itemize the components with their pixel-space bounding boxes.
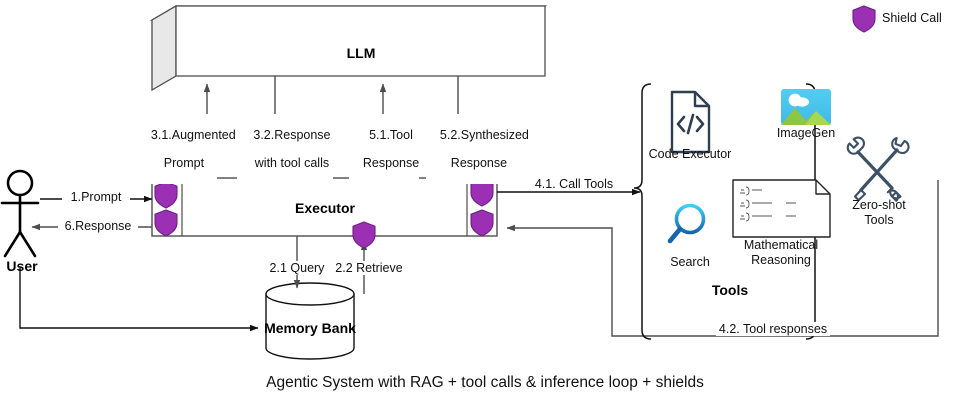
shield-icon-legend (853, 6, 875, 32)
edge-label-prompt: 1.Prompt (62, 190, 130, 204)
tool-label-line1: Mathematical (744, 238, 818, 252)
memory-bank-label: Memory Bank (250, 320, 370, 336)
edge-label-call-tools: 4.1. Call Tools (534, 177, 614, 191)
edge-label-synthesized-response: 5.2.Synthesized Response (426, 114, 518, 184)
edge-label-line2: Response (363, 156, 419, 170)
magnifier-icon[interactable] (670, 206, 704, 242)
tools-group-brace-left (634, 84, 651, 339)
tool-label-line2: Tools (864, 213, 893, 227)
edge-label-line2: Response (451, 156, 507, 170)
tool-label-line2: Reasoning (751, 253, 811, 267)
edge-label-response-with-tool-calls: 3.2.Response with tool calls (237, 114, 333, 184)
tool-label-line1: Zero-shot (852, 198, 906, 212)
crossed-wrenches-icon[interactable] (848, 138, 909, 201)
edge-label-line2: with tool calls (255, 156, 329, 170)
edge-label-query: 2.1 Query (266, 261, 328, 275)
shield-icon-executor-memory (353, 222, 375, 248)
edge-label-line2: Prompt (164, 156, 204, 170)
tool-label-code-executor: Code Executor (625, 147, 755, 162)
user-node[interactable] (2, 171, 38, 256)
diagram-canvas: LLM Executor Memory Bank User Tools 3.1.… (0, 0, 970, 411)
edge-label-line1: 5.2.Synthesized (440, 128, 529, 142)
diagram-caption: Agentic System with RAG + tool calls & i… (0, 374, 970, 392)
executor-label: Executor (280, 200, 370, 216)
edge-label-line1: 3.1.Augmented (151, 128, 236, 142)
legend-label: Shield Call (882, 11, 962, 25)
tool-label-imagegen: ImageGen (741, 126, 871, 141)
tool-label-zero-shot-tools: Zero-shot Tools (814, 198, 944, 228)
llm-label: LLM (316, 45, 406, 61)
edge-label-retrieve: 2.2 Retrieve (332, 261, 406, 275)
tools-group-label: Tools (700, 282, 760, 298)
user-label: User (0, 258, 52, 274)
tool-label-search: Search (625, 255, 755, 270)
edge-label-tool-responses: 4.2. Tool responses (716, 322, 830, 336)
edge-label-line1: 3.2.Response (253, 128, 330, 142)
edge-insert (20, 268, 258, 328)
edge-label-tool-response: 5.1.Tool Response (349, 114, 419, 184)
edge-label-response: 6.Response (58, 219, 138, 233)
edge-label-augmented-prompt: 3.1.Augmented Prompt (137, 114, 217, 184)
edge-label-line1: 5.1.Tool (369, 128, 413, 142)
code-document-icon[interactable] (672, 92, 709, 152)
image-icon[interactable] (781, 89, 831, 125)
